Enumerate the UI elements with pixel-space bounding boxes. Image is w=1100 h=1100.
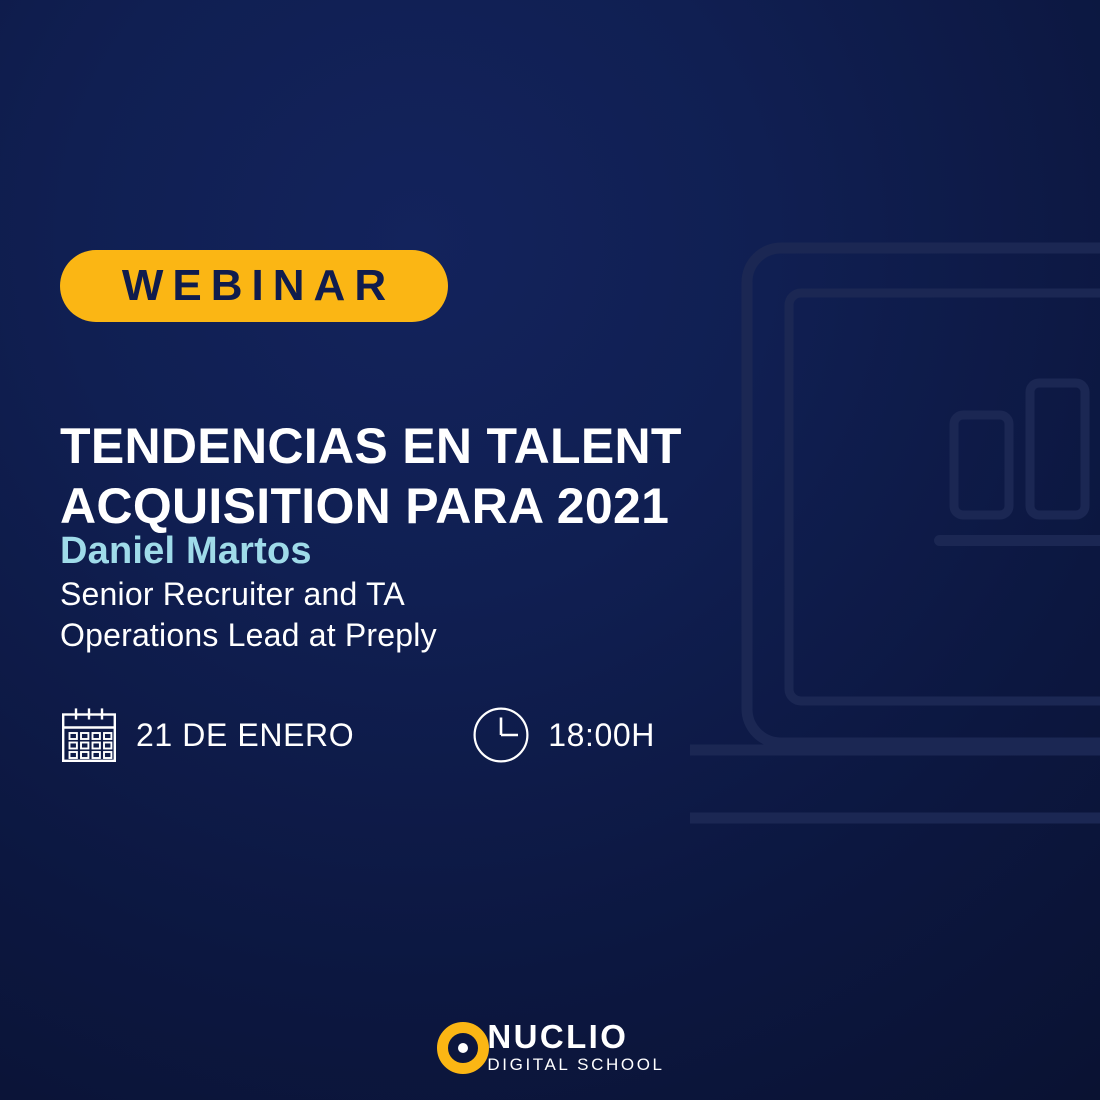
speaker-role-line-1: Senior Recruiter and TA xyxy=(60,574,620,615)
webinar-badge: WEBINAR xyxy=(60,250,448,322)
event-meta-row: 21 DE ENERO 18:00H xyxy=(60,706,655,764)
logo-tagline: DIGITAL SCHOOL xyxy=(487,1055,664,1075)
calendar-icon xyxy=(60,706,118,764)
nuclio-logo: NUCLIO DIGITAL SCHOOL xyxy=(0,1020,1100,1076)
logo-name: NUCLIO xyxy=(487,1021,628,1053)
nuclio-ring-icon xyxy=(435,1020,491,1076)
event-time: 18:00H xyxy=(472,706,655,764)
headline-line-1: TENDENCIAS EN TALENT xyxy=(60,416,700,476)
laptop-with-bar-chart-icon xyxy=(690,238,1100,830)
event-date-label: 21 DE ENERO xyxy=(136,717,354,754)
logo-wordmark: NUCLIO DIGITAL SCHOOL xyxy=(487,1021,664,1075)
headline-line-2: ACQUISITION PARA 2021 xyxy=(60,476,700,536)
event-date: 21 DE ENERO xyxy=(60,706,354,764)
webinar-badge-label: WEBINAR xyxy=(113,264,395,308)
speaker-role-line-2: Operations Lead at Preply xyxy=(60,615,620,656)
speaker-block: Daniel Martos Senior Recruiter and TA Op… xyxy=(60,528,620,656)
speaker-name: Daniel Martos xyxy=(60,528,620,574)
page-title: TENDENCIAS EN TALENT ACQUISITION PARA 20… xyxy=(60,416,700,536)
webinar-poster: WEBINAR TENDENCIAS EN TALENT ACQUISITION… xyxy=(0,0,1100,1100)
clock-icon xyxy=(472,706,530,764)
event-time-label: 18:00H xyxy=(548,717,655,754)
